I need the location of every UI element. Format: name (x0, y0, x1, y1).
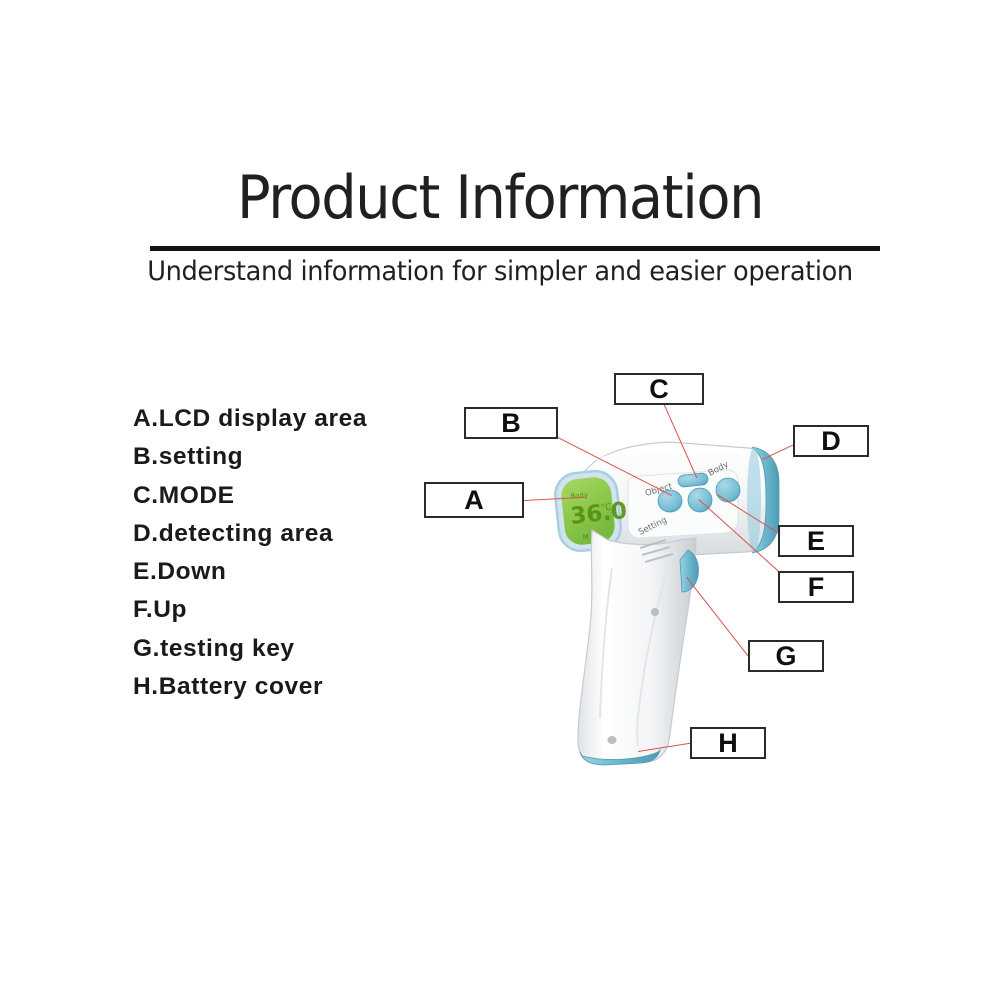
svg-text:°C: °C (600, 503, 612, 514)
legend-item-f: F.Up (133, 591, 473, 629)
device-handle (578, 530, 696, 764)
legend-item-e: E.Down (133, 553, 473, 591)
screw-upper (651, 608, 659, 616)
callout-a-label: A (464, 485, 484, 516)
title-divider (150, 246, 880, 251)
legend-list: A.LCD display area B.setting C.MODE D.de… (133, 400, 473, 706)
legend-item-c: C.MODE (133, 477, 473, 515)
callout-g[interactable]: G (748, 640, 824, 672)
page-title: Product Information (35, 168, 965, 228)
product-information-page: Product Information Understand informati… (0, 0, 1000, 1000)
legend-item-g: G.testing key (133, 630, 473, 668)
callout-b[interactable]: B (464, 407, 558, 439)
screw-lower (608, 736, 617, 744)
legend-item-a: A.LCD display area (133, 400, 473, 438)
callout-e-label: E (807, 526, 825, 557)
callout-e[interactable]: E (778, 525, 854, 557)
page-subtitle: Understand information for simpler and e… (25, 256, 975, 287)
callout-d-label: D (821, 426, 841, 457)
callout-h[interactable]: H (690, 727, 766, 759)
legend-item-h: H.Battery cover (133, 668, 473, 706)
callout-f-label: F (808, 572, 825, 603)
testing-key-trigger (680, 550, 699, 592)
legend-item-d: D.detecting area (133, 515, 473, 553)
callout-a[interactable]: A (424, 482, 524, 518)
callout-b-label: B (501, 408, 521, 439)
callout-d[interactable]: D (793, 425, 869, 457)
legend-item-b: B.setting (133, 438, 473, 476)
callout-c[interactable]: C (614, 373, 704, 405)
down-button (716, 478, 740, 502)
callout-h-label: H (718, 728, 738, 759)
page-header: Product Information Understand informati… (0, 168, 1000, 228)
callout-g-label: G (775, 641, 796, 672)
callout-f[interactable]: F (778, 571, 854, 603)
callout-c-label: C (649, 374, 669, 405)
